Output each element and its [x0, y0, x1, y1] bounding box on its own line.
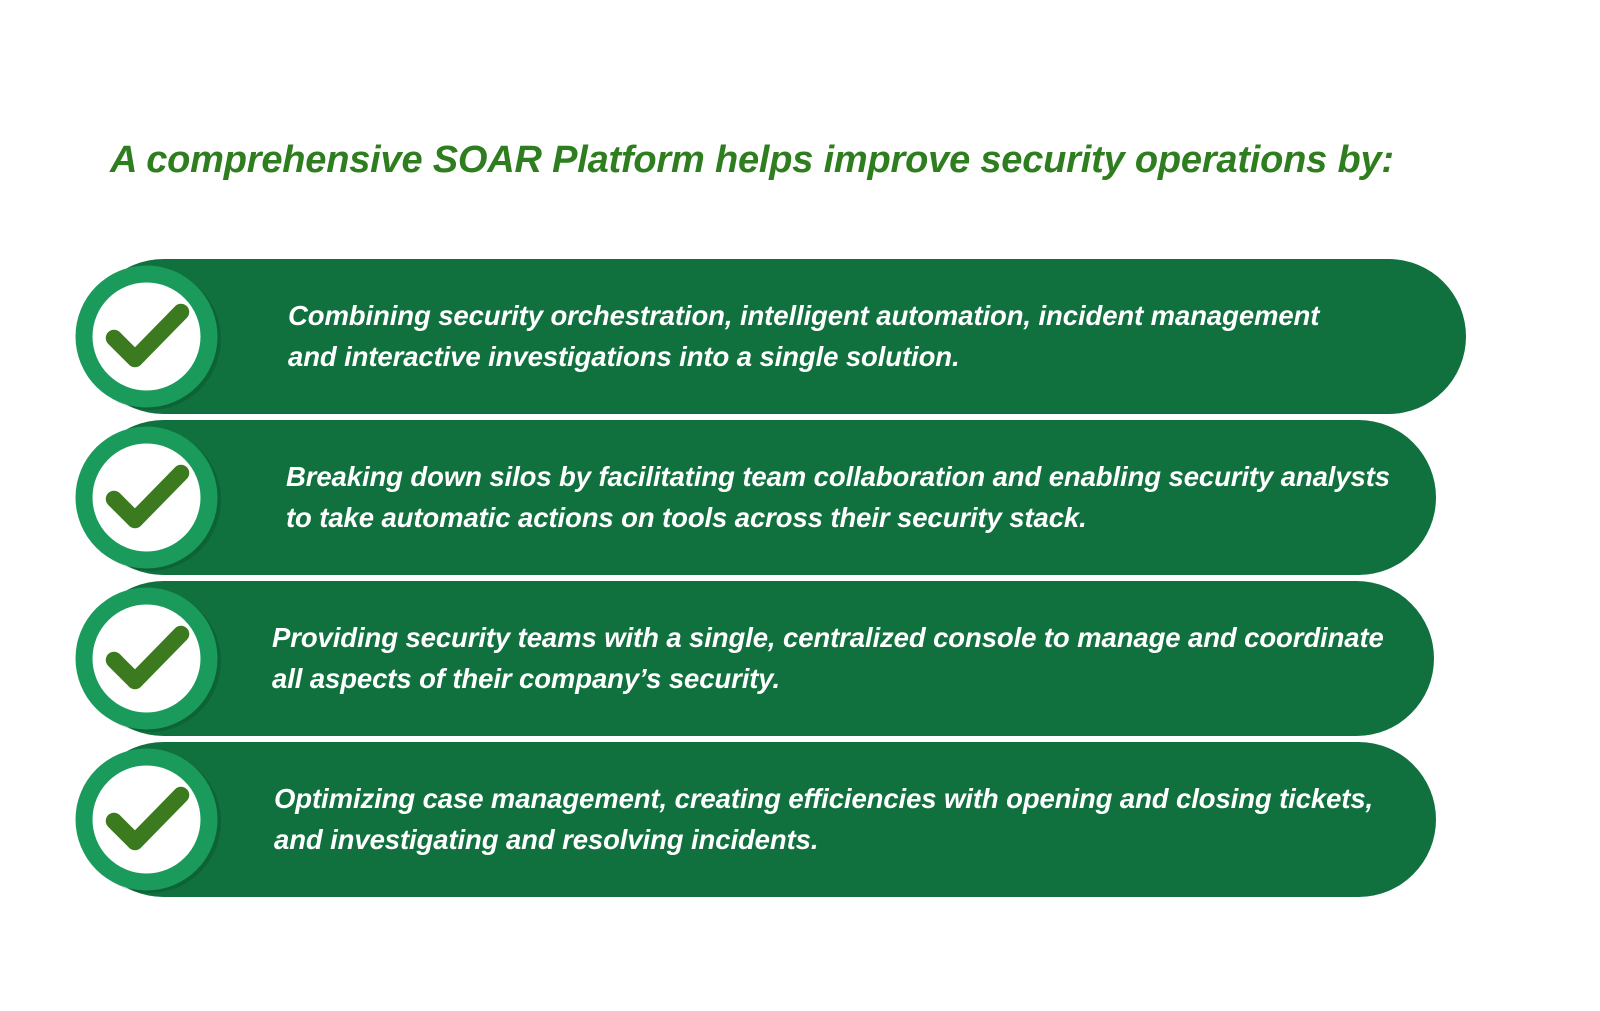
benefit-item: Breaking down silos by facilitating team… [86, 420, 1436, 575]
benefit-text: Optimizing case management, creating eff… [274, 778, 1408, 862]
check-icon [72, 262, 221, 411]
benefit-list: Combining security orchestration, intell… [0, 259, 1600, 899]
check-icon [72, 584, 221, 733]
benefit-item: Providing security teams with a single, … [86, 581, 1434, 736]
check-icon [72, 745, 221, 894]
benefit-item: Combining security orchestration, intell… [86, 259, 1466, 414]
benefit-item: Optimizing case management, creating eff… [86, 742, 1436, 897]
soar-benefits-infographic: A comprehensive SOAR Platform helps impr… [0, 0, 1600, 1011]
benefit-text: Providing security teams with a single, … [272, 617, 1406, 701]
benefit-text: Combining security orchestration, intell… [288, 295, 1356, 379]
benefit-text: Breaking down silos by facilitating team… [286, 456, 1414, 540]
page-title: A comprehensive SOAR Platform helps impr… [110, 139, 1470, 182]
check-icon [72, 423, 221, 572]
